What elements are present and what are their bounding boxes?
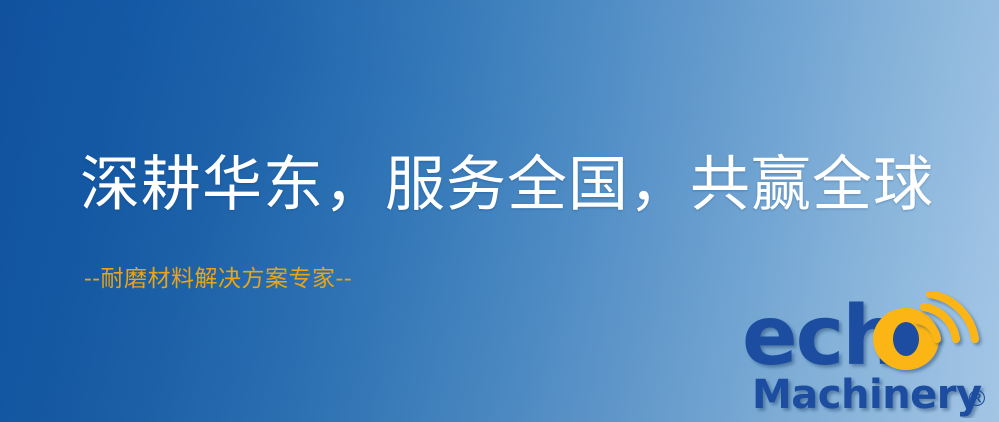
logo-tagline-machinery: Machinery xyxy=(752,372,982,418)
echo-machinery-logo[interactable]: ech Machinery ® xyxy=(742,292,994,418)
promo-banner: 深耕华东，服务全国，共赢全球 --耐磨材料解决方案专家-- ech xyxy=(0,0,999,422)
svg-text:®: ® xyxy=(966,387,988,412)
registered-trademark-icon: ® xyxy=(966,387,988,412)
svg-text:Machinery: Machinery xyxy=(752,372,982,418)
banner-headline: 深耕华东，服务全国，共赢全球 xyxy=(80,152,934,218)
logo-letter-o-gold xyxy=(873,308,939,370)
banner-subtitle: --耐磨材料解决方案专家-- xyxy=(84,266,352,294)
